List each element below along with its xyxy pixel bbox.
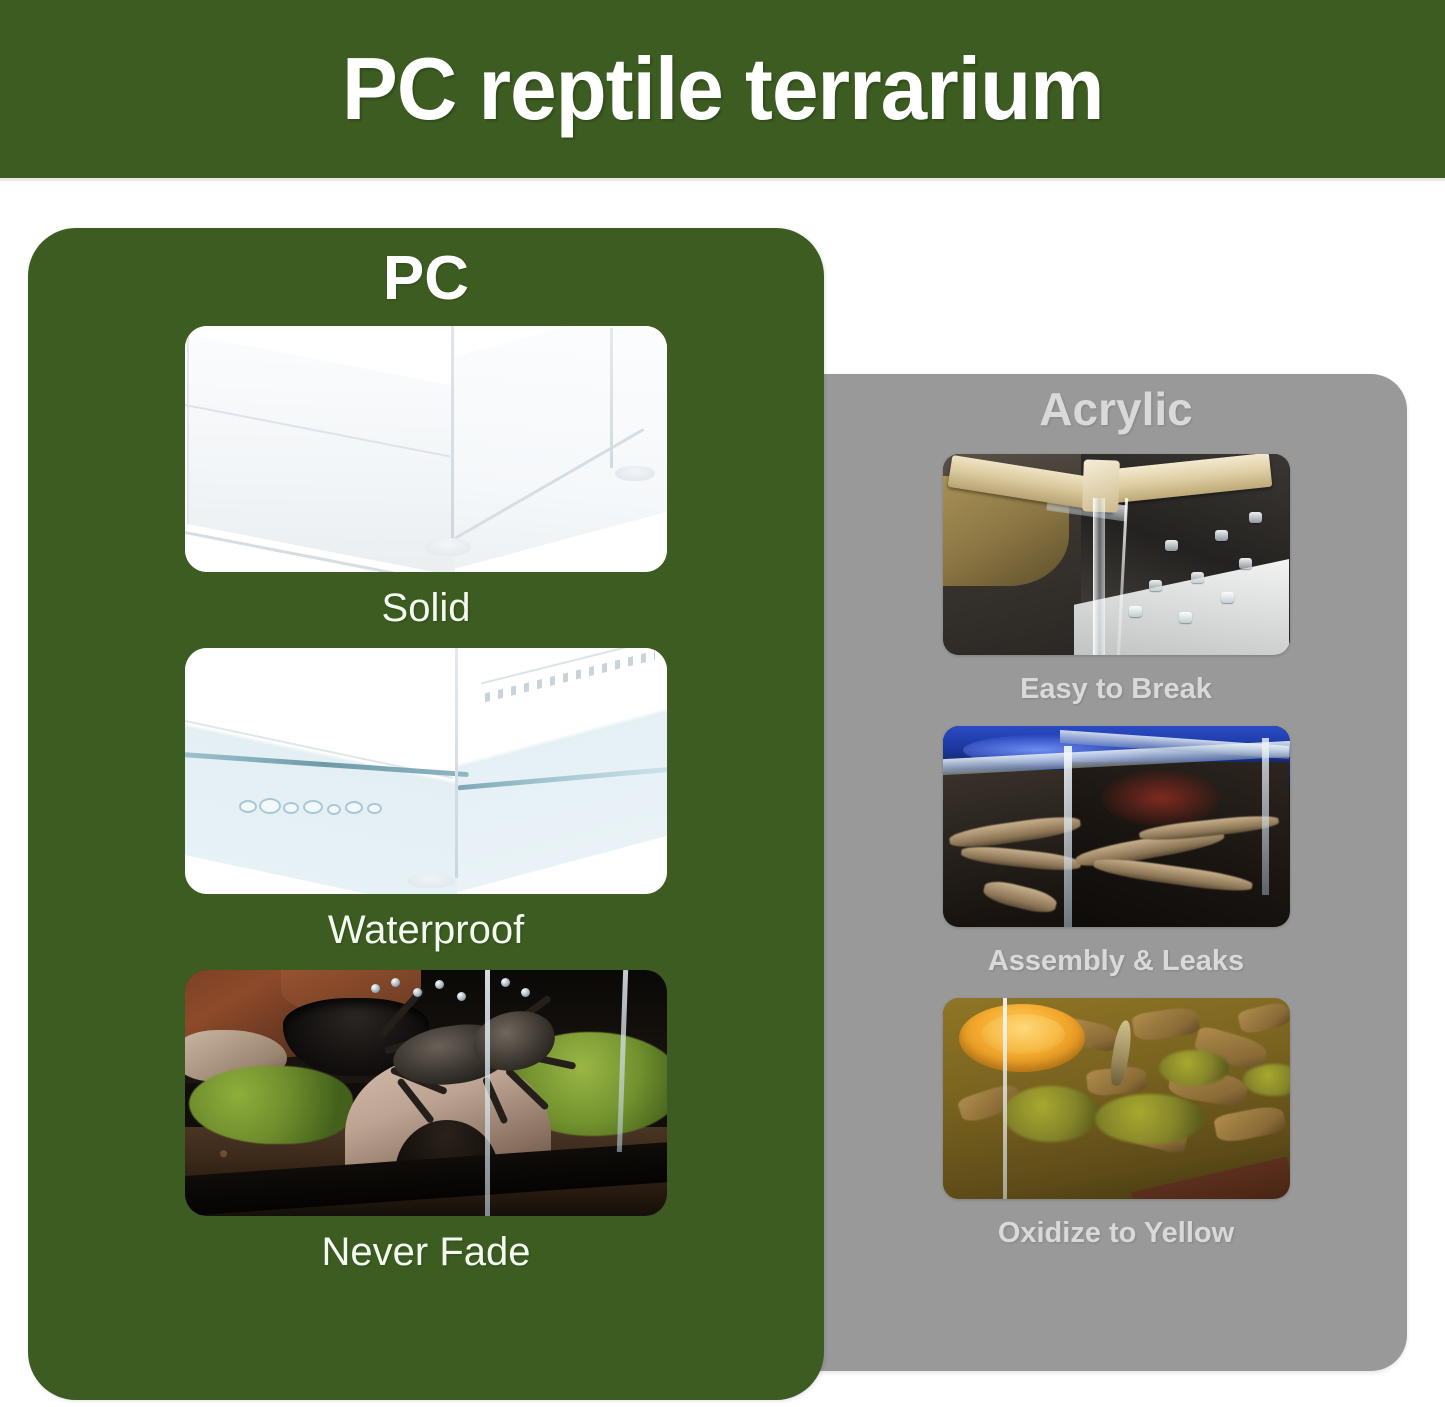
acrylic-feature-caption: Assembly & Leaks: [988, 947, 1244, 976]
clear-pc-tank-corner-art: [185, 326, 667, 572]
pc-comparison-panel: PC Solid: [28, 228, 824, 1400]
pc-feature-caption: Waterproof: [328, 910, 524, 950]
blue-lit-acrylic-tank-art: [943, 726, 1290, 927]
acrylic-feature-item: Oxidize to Yellow: [943, 998, 1290, 1270]
pc-feature-caption: Solid: [382, 588, 471, 628]
cracked-acrylic-corner-photo: [943, 454, 1290, 655]
blue-lit-acrylic-tank-photo: [943, 726, 1290, 927]
page-title: PC reptile terrarium: [342, 45, 1104, 133]
acrylic-feature-item: Assembly & Leaks: [943, 726, 1290, 998]
tarantula-terrarium-photo: [185, 970, 667, 1216]
acrylic-feature-item: Easy to Break: [943, 454, 1290, 726]
pc-feature-item: Solid: [185, 326, 667, 648]
pc-feature-item: Never Fade: [185, 970, 667, 1292]
acrylic-feature-caption: Easy to Break: [1020, 675, 1212, 704]
pc-feature-caption: Never Fade: [322, 1232, 531, 1272]
acrylic-panel-heading: Acrylic: [1039, 386, 1192, 432]
pc-feature-item: Waterproof: [185, 648, 667, 970]
pc-panel-heading: PC: [383, 248, 469, 310]
water-filled-clear-tank-art: [185, 648, 667, 894]
yellowed-bark-substrate-art: [943, 998, 1290, 1199]
clear-pc-tank-corner-photo: [185, 326, 667, 572]
cracked-acrylic-corner-art: [943, 454, 1290, 655]
tarantula-terrarium-art: [185, 970, 667, 1216]
water-filled-clear-tank-photo: [185, 648, 667, 894]
acrylic-feature-caption: Oxidize to Yellow: [998, 1219, 1234, 1248]
infographic-root: PC reptile terrarium Acrylic: [0, 0, 1445, 1407]
header-divider: [0, 178, 1445, 181]
header-banner: PC reptile terrarium: [0, 0, 1445, 178]
yellowed-bark-substrate-photo: [943, 998, 1290, 1199]
acrylic-panel-content: Acrylic: [825, 374, 1407, 1371]
